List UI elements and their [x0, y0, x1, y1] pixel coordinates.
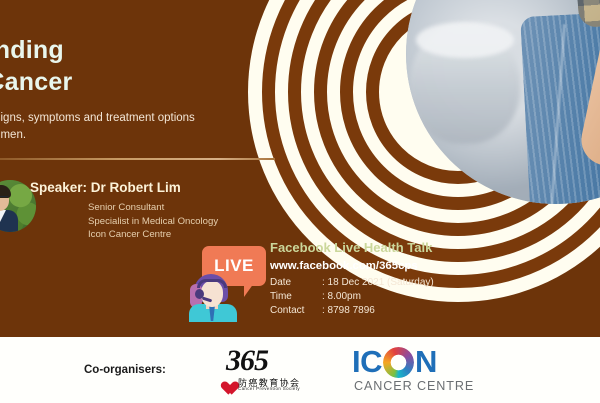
subtitle-line-1: e about the signs, symptoms and treatmen…	[0, 110, 274, 127]
poster-main-panel: c: erstanding tate Cancer e about the si…	[0, 0, 600, 337]
event-detail-value: : 8798 7896	[322, 304, 375, 318]
event-detail-label: Time	[270, 290, 322, 304]
section-divider	[0, 158, 275, 160]
speaker-credential-line: Icon Cancer Centre	[88, 228, 218, 242]
subtitle: e about the signs, symptoms and treatmen…	[0, 110, 274, 144]
swirl-icon	[383, 347, 414, 378]
logo-365-english-name: Cancer Prevention Society	[238, 386, 300, 391]
heart-icon	[218, 375, 235, 391]
title-line-3: tate Cancer	[0, 66, 264, 98]
headset-operator-icon	[186, 274, 242, 320]
facebook-url-link[interactable]: www.facebook.com/365cps	[270, 258, 434, 274]
title-line-2: erstanding	[0, 34, 264, 66]
logo-365-number: 365	[226, 344, 268, 378]
facebook-live-title: Facebook Live Health Talk	[270, 239, 434, 256]
event-detail-row: Date : 18 Dec 2021 (Saturday)	[270, 276, 434, 290]
speaker-credential-line: Senior Consultant	[88, 201, 218, 215]
event-detail-label: Contact	[270, 304, 322, 318]
facebook-live-info: Facebook Live Health Talk www.facebook.c…	[270, 239, 434, 318]
event-details-list: Date : 18 Dec 2021 (Saturday) Time : 8.0…	[270, 276, 434, 318]
operator-headset-band-icon	[197, 279, 227, 288]
event-detail-value: : 8.00pm	[322, 290, 361, 304]
live-badge-graphic: LIVE	[186, 246, 268, 320]
speaker-name: Speaker: Dr Robert Lim	[30, 180, 181, 195]
swirl-center-dot-icon	[393, 357, 404, 368]
event-detail-label: Date	[270, 276, 322, 290]
subtitle-line-2: e Cancer for men.	[0, 127, 274, 144]
health-talk-poster: c: erstanding tate Cancer e about the si…	[0, 0, 600, 403]
page-title: c: erstanding tate Cancer	[0, 2, 264, 98]
co-organisers-label: Co-organisers:	[84, 364, 166, 376]
logo-icon-wordmark: IC N	[352, 345, 437, 379]
logo-icon-cancer-centre: IC N CANCER CENTRE	[352, 349, 482, 395]
logo-icon-tagline: CANCER CENTRE	[354, 379, 474, 393]
speaker-credential-line: Specialist in Medical Oncology	[88, 215, 218, 229]
speaker-credentials: Senior Consultant Specialist in Medical …	[88, 201, 218, 242]
event-detail-row: Contact : 8798 7896	[270, 304, 434, 318]
toilet-rim-shape	[416, 22, 514, 58]
title-line-1: c:	[0, 2, 264, 34]
logo-icon-word-before: IC	[352, 345, 382, 379]
event-detail-value: : 18 Dec 2021 (Saturday)	[322, 276, 434, 290]
logo-icon-word-after: N	[415, 345, 437, 379]
glasses-icon	[0, 196, 8, 201]
patient-photo	[406, 0, 600, 204]
event-detail-row: Time : 8.00pm	[270, 290, 434, 304]
logo-365-cancer-prevention-society: 365 防癌教育协会 Cancer Prevention Society	[214, 347, 306, 397]
